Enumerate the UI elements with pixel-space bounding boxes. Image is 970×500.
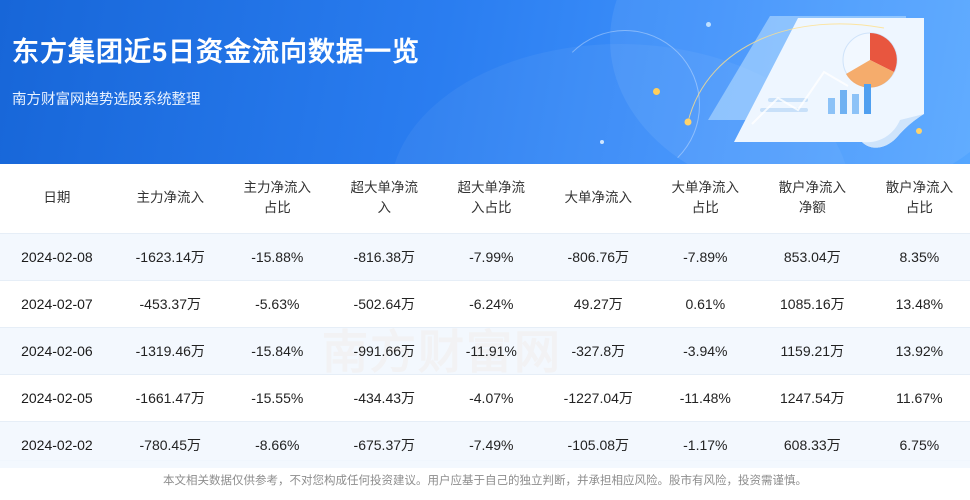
cell-retail-pct: 11.67% [869,375,970,422]
table-header-row: 日期 主力净流入 主力净流入 占比 超大单净流 入 超大单净流 入占比 大单净流… [0,164,970,234]
cell-lg-pct: -7.89% [655,234,756,281]
cell-lg-net: -327.8万 [542,328,655,375]
cell-retail-net: 1247.54万 [756,375,869,422]
cell-retail-pct: 13.48% [869,281,970,328]
cell-date: 2024-02-07 [0,281,114,328]
page-subtitle: 南方财富网趋势选股系统整理 [12,88,201,109]
cell-xl-net: -816.38万 [328,234,441,281]
column-header-main-net: 主力净流入 [114,164,227,234]
cell-lg-net: -806.76万 [542,234,655,281]
cell-main-net: -1661.47万 [114,375,227,422]
column-header-date: 日期 [0,164,114,234]
cell-date: 2024-02-02 [0,422,114,469]
report-illustration-icon [648,2,948,162]
cell-main-net: -453.37万 [114,281,227,328]
table-body: 2024-02-08 -1623.14万 -15.88% -816.38万 -7… [0,234,970,469]
cell-main-pct: -15.55% [227,375,328,422]
cell-xl-net: -675.37万 [328,422,441,469]
table-row: 2024-02-07 -453.37万 -5.63% -502.64万 -6.2… [0,281,970,328]
cell-xl-pct: -7.99% [441,234,542,281]
cell-date: 2024-02-08 [0,234,114,281]
cell-retail-net: 608.33万 [756,422,869,469]
cell-retail-pct: 6.75% [869,422,970,469]
cell-main-pct: -15.84% [227,328,328,375]
column-header-retail-net: 散户净流入 净额 [756,164,869,234]
cell-main-pct: -5.63% [227,281,328,328]
cell-main-net: -780.45万 [114,422,227,469]
cell-lg-pct: 0.61% [655,281,756,328]
column-header-lg-pct: 大单净流入 占比 [655,164,756,234]
page-root: 东方集团近5日资金流向数据一览 南方财富网趋势选股系统整理 南方财富网 sout… [0,0,970,500]
table-row: 2024-02-02 -780.45万 -8.66% -675.37万 -7.4… [0,422,970,469]
cell-xl-net: -991.66万 [328,328,441,375]
table-header: 日期 主力净流入 主力净流入 占比 超大单净流 入 超大单净流 入占比 大单净流… [0,164,970,234]
cell-main-net: -1623.14万 [114,234,227,281]
cell-lg-net: -105.08万 [542,422,655,469]
page-title: 东方集团近5日资金流向数据一览 [12,30,420,69]
cell-lg-net: -1227.04万 [542,375,655,422]
cell-date: 2024-02-06 [0,328,114,375]
column-header-retail-pct: 散户净流入 占比 [869,164,970,234]
table-row: 2024-02-08 -1623.14万 -15.88% -816.38万 -7… [0,234,970,281]
cell-main-pct: -8.66% [227,422,328,469]
cell-lg-pct: -3.94% [655,328,756,375]
header-banner: 东方集团近5日资金流向数据一览 南方财富网趋势选股系统整理 [0,0,970,164]
column-header-lg-net: 大单净流入 [542,164,655,234]
cell-main-pct: -15.88% [227,234,328,281]
column-header-xl-net: 超大单净流 入 [328,164,441,234]
cell-retail-net: 853.04万 [756,234,869,281]
cell-xl-pct: -7.49% [441,422,542,469]
cell-xl-net: -434.43万 [328,375,441,422]
cell-date: 2024-02-05 [0,375,114,422]
cell-lg-pct: -1.17% [655,422,756,469]
column-header-main-pct: 主力净流入 占比 [227,164,328,234]
cell-retail-pct: 8.35% [869,234,970,281]
cell-xl-pct: -11.91% [441,328,542,375]
cell-retail-net: 1085.16万 [756,281,869,328]
table-row: 2024-02-05 -1661.47万 -15.55% -434.43万 -4… [0,375,970,422]
cell-xl-pct: -6.24% [441,281,542,328]
cell-xl-net: -502.64万 [328,281,441,328]
column-header-xl-pct: 超大单净流 入占比 [441,164,542,234]
fund-flow-table: 日期 主力净流入 主力净流入 占比 超大单净流 入 超大单净流 入占比 大单净流… [0,164,970,468]
cell-xl-pct: -4.07% [441,375,542,422]
decorative-dot [600,140,604,144]
cell-lg-net: 49.27万 [542,281,655,328]
table-row: 2024-02-06 -1319.46万 -15.84% -991.66万 -1… [0,328,970,375]
cell-retail-net: 1159.21万 [756,328,869,375]
cell-main-net: -1319.46万 [114,328,227,375]
fund-flow-table-container: 日期 主力净流入 主力净流入 占比 超大单净流 入 超大单净流 入占比 大单净流… [0,164,970,468]
cell-retail-pct: 13.92% [869,328,970,375]
cell-lg-pct: -11.48% [655,375,756,422]
